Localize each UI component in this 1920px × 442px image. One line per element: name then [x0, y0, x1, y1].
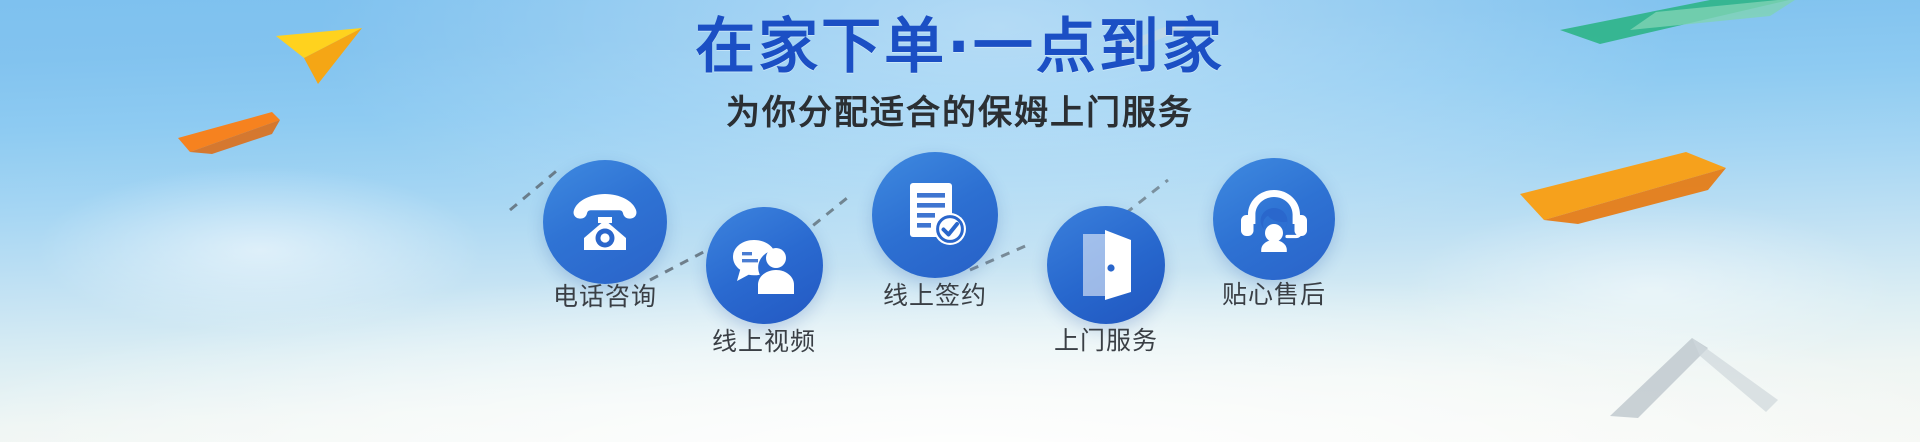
- door-open-icon: [1075, 230, 1137, 300]
- step-label-home-service: 上门服务: [984, 326, 1228, 356]
- step-label-online-video: 线上视频: [642, 327, 886, 357]
- step-label-after-sales: 贴心售后: [1152, 280, 1396, 310]
- step-bubble: [872, 152, 998, 278]
- service-steps: 电话咨询 线上视频: [0, 0, 1920, 442]
- contract-signed-icon: [898, 179, 972, 251]
- step-item-phone-consult[interactable]: [543, 160, 667, 284]
- step-bubble: [1047, 206, 1165, 324]
- telephone-icon: [568, 190, 642, 254]
- step-bubble: [706, 207, 823, 324]
- video-chat-icon: [728, 234, 802, 298]
- step-item-online-contract[interactable]: [872, 152, 998, 278]
- step-bubble: [543, 160, 667, 284]
- step-item-online-video[interactable]: [706, 207, 823, 324]
- step-item-after-sales[interactable]: [1213, 158, 1335, 280]
- step-bubble: [1213, 158, 1335, 280]
- headset-support-icon: [1235, 184, 1313, 254]
- step-label-online-contract: 线上签约: [807, 281, 1063, 311]
- step-label-phone-consult: 电话咨询: [483, 282, 727, 312]
- promo-banner: 在家下单·一点到家 为你分配适合的保姆上门服务 电话咨询: [0, 0, 1920, 442]
- step-item-home-service[interactable]: [1047, 206, 1165, 324]
